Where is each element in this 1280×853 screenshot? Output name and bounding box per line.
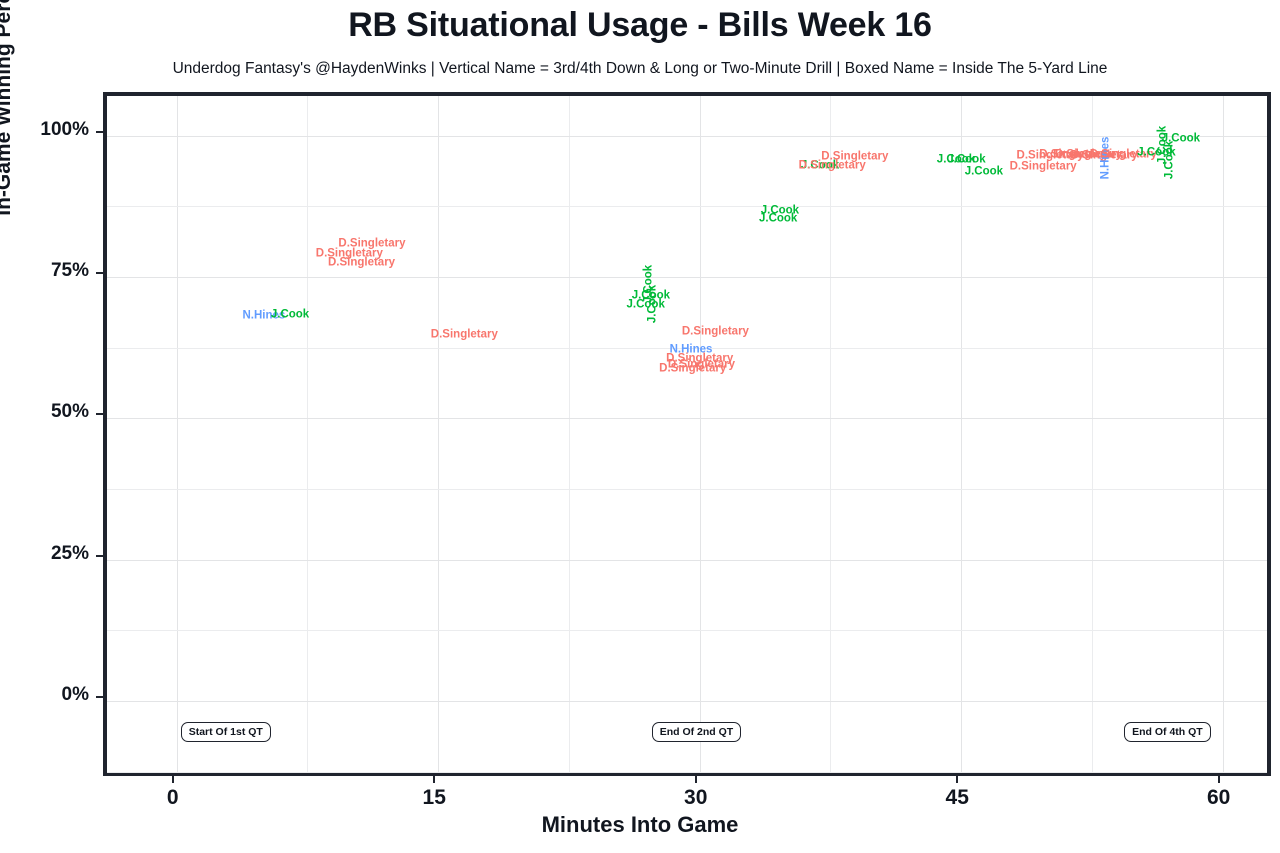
- gridline-y: [107, 489, 1267, 490]
- gridline-y: [107, 772, 1267, 773]
- chart-subtitle: Underdog Fantasy's @HaydenWinks | Vertic…: [0, 60, 1280, 78]
- data-point-label: D.Singletary: [328, 257, 395, 269]
- gridline-x: [700, 96, 701, 772]
- y-axis-label: In-Game Winning Percentage: [0, 0, 15, 216]
- x-tick-mark: [1218, 776, 1220, 783]
- y-tick-label: 75%: [0, 260, 89, 282]
- y-tick-mark: [96, 413, 103, 415]
- data-point-label: D.Singletary: [821, 151, 888, 163]
- plot-panel: N.HinesJ.CookD.SingletaryD.SingletaryD.S…: [103, 92, 1271, 776]
- data-point-label: J.Cook: [647, 285, 659, 323]
- data-point-label: J.Cook: [1165, 141, 1177, 179]
- gridline-y: [107, 418, 1267, 419]
- x-tick-label: 45: [917, 786, 997, 810]
- chart-root: RB Situational Usage - Bills Week 16 Und…: [0, 0, 1280, 853]
- gridline-y: [107, 630, 1267, 631]
- gridline-y: [107, 277, 1267, 278]
- data-point-label: D.Singletary: [682, 326, 749, 338]
- x-tick-label: 15: [394, 786, 474, 810]
- annotation-end-of-4th-qt: End Of 4th QT: [1124, 722, 1211, 742]
- gridline-x: [1092, 96, 1093, 772]
- y-tick-mark: [96, 131, 103, 133]
- y-tick-label: 50%: [0, 401, 89, 423]
- data-point-label: D.Singletary: [659, 363, 726, 375]
- chart-title: RB Situational Usage - Bills Week 16: [0, 6, 1280, 45]
- gridline-x: [1223, 96, 1224, 772]
- gridline-x: [961, 96, 962, 772]
- x-tick-label: 60: [1179, 786, 1259, 810]
- gridline-y: [107, 701, 1267, 702]
- x-tick-label: 30: [656, 786, 736, 810]
- x-tick-mark: [695, 776, 697, 783]
- data-point-label: J.Cook: [759, 213, 797, 225]
- data-point-label: J.Cook: [271, 309, 309, 321]
- gridline-x: [438, 96, 439, 772]
- x-tick-mark: [956, 776, 958, 783]
- gridline-x: [177, 96, 178, 772]
- y-axis-label-wrap: In-Game Winning Percentage: [0, 0, 16, 250]
- x-tick-label: 0: [133, 786, 213, 810]
- y-tick-mark: [96, 696, 103, 698]
- gridline-y: [107, 136, 1267, 137]
- gridline-y: [107, 206, 1267, 207]
- gridline-x: [830, 96, 831, 772]
- x-tick-mark: [172, 776, 174, 783]
- y-tick-label: 0%: [0, 684, 89, 706]
- y-tick-label: 25%: [0, 543, 89, 565]
- data-point-label: D.Singletary: [1010, 161, 1077, 173]
- y-tick-mark: [96, 555, 103, 557]
- y-tick-mark: [96, 272, 103, 274]
- gridline-x: [569, 96, 570, 772]
- x-tick-mark: [433, 776, 435, 783]
- data-point-label: J.Cook: [965, 167, 1003, 179]
- annotation-end-of-2nd-qt: End Of 2nd QT: [652, 722, 742, 742]
- gridline-y: [107, 560, 1267, 561]
- annotation-start-of-1st-qt: Start Of 1st QT: [181, 722, 271, 742]
- data-point-label: D.Singletary: [431, 329, 498, 341]
- gridline-x: [307, 96, 308, 772]
- data-point-label: J.Cook: [947, 155, 985, 167]
- x-axis-label: Minutes Into Game: [0, 812, 1280, 838]
- data-point-label: J.Cook: [1162, 133, 1200, 145]
